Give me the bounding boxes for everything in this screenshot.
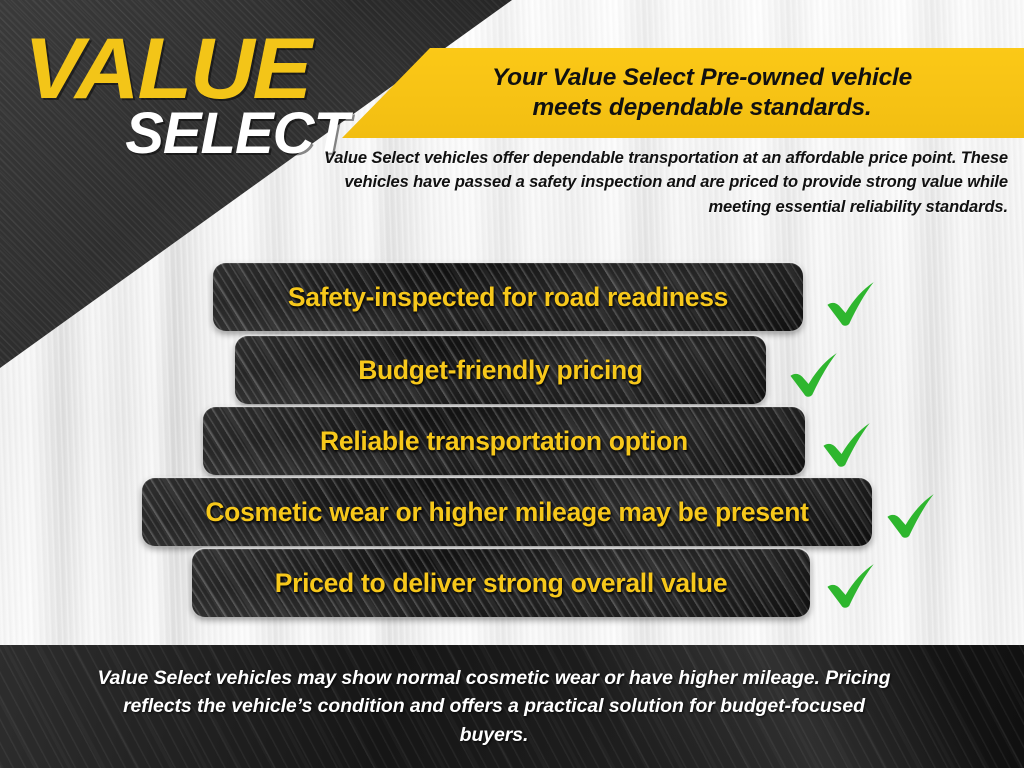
footer-band: Value Select vehicles may show normal co…	[0, 645, 1024, 768]
feature-row-5: Priced to deliver strong overall value	[192, 549, 810, 617]
feature-bar-3[interactable]: Reliable transportation option	[203, 407, 805, 475]
feature-row-4: Cosmetic wear or higher mileage may be p…	[142, 478, 872, 546]
feature-bar-4[interactable]: Cosmetic wear or higher mileage may be p…	[142, 478, 872, 546]
checkmark-icon-1	[822, 274, 880, 332]
feature-label-3: Reliable transportation option	[320, 426, 688, 457]
checkmark-icon-4	[882, 486, 940, 544]
feature-label-1: Safety-inspected for road readiness	[288, 282, 728, 313]
feature-bar-2[interactable]: Budget-friendly pricing	[235, 336, 766, 404]
checkmark-icon-2	[785, 345, 843, 403]
checkmark-icon-3	[818, 415, 876, 473]
feature-label-4: Cosmetic wear or higher mileage may be p…	[205, 497, 808, 528]
feature-row-3: Reliable transportation option	[203, 407, 805, 475]
feature-label-5: Priced to deliver strong overall value	[275, 568, 728, 599]
feature-row-2: Budget-friendly pricing	[235, 336, 766, 404]
feature-row-1: Safety-inspected for road readiness	[213, 263, 803, 331]
feature-bar-1[interactable]: Safety-inspected for road readiness	[213, 263, 803, 331]
checkmark-icon-5	[822, 556, 880, 614]
feature-label-2: Budget-friendly pricing	[358, 355, 643, 386]
footer-disclaimer: Value Select vehicles may show normal co…	[88, 664, 900, 748]
value-select-badge-poster: VALUE SELECT Your Value Select Pre-owned…	[0, 0, 1024, 768]
feature-bar-5[interactable]: Priced to deliver strong overall value	[192, 549, 810, 617]
